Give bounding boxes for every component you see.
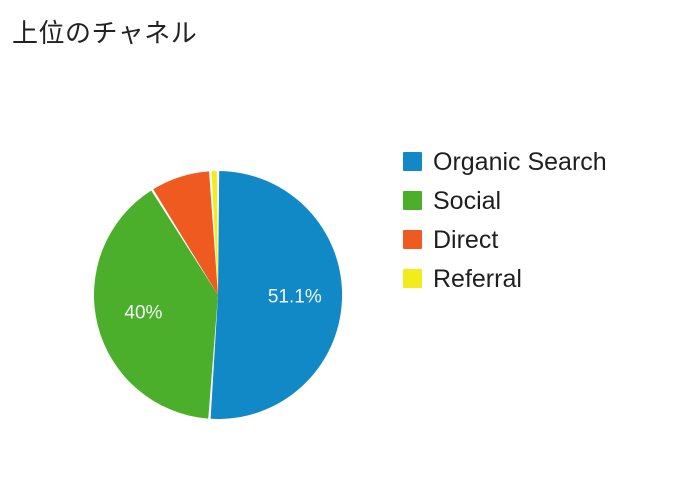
legend-item-referral[interactable]: Referral xyxy=(403,259,665,298)
legend-item-direct[interactable]: Direct xyxy=(403,220,665,259)
pie-data-label-social: 40% xyxy=(124,303,162,324)
pie-chart-figure: 上位のチャネル 51.1%40% Organic SearchSocialDir… xyxy=(0,0,680,500)
page-title: 上位のチャネル xyxy=(12,16,197,50)
pie-data-label-organic-search: 51.1% xyxy=(268,287,322,308)
chart-legend: Organic SearchSocialDirectReferral xyxy=(403,142,665,298)
legend-swatch-social xyxy=(403,191,422,210)
legend-swatch-direct xyxy=(403,230,422,249)
legend-label-referral: Referral xyxy=(433,265,522,293)
legend-swatch-referral xyxy=(403,269,422,288)
legend-label-organic-search: Organic Search xyxy=(433,148,607,176)
legend-item-organic-search[interactable]: Organic Search xyxy=(403,142,665,181)
plot-area: 51.1%40% xyxy=(80,155,365,445)
legend-label-social: Social xyxy=(433,187,501,215)
legend-swatch-organic-search xyxy=(403,152,422,171)
pie-svg: 51.1%40% xyxy=(80,155,365,445)
legend-item-social[interactable]: Social xyxy=(403,181,665,220)
legend-label-direct: Direct xyxy=(433,226,498,254)
